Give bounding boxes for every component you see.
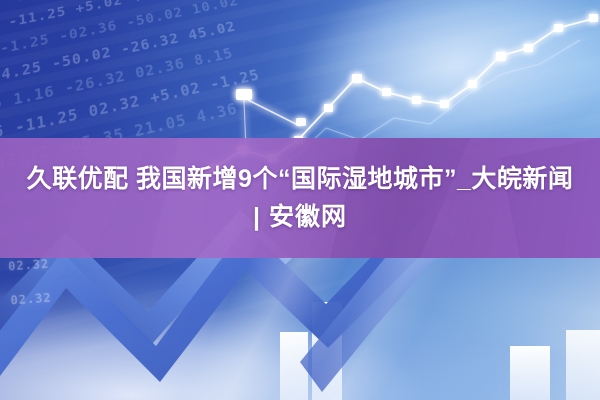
ticker-bottom-left-group: 02.32 02.32 bbox=[8, 257, 54, 328]
bar-column bbox=[510, 346, 550, 400]
news-banner-image: -03.39 +2.25 -11.25 -05.35 21.05 -06.02 … bbox=[0, 0, 600, 400]
headline-line-1: 久联优配 我国新增9个“国际湿地城市”_大皖新闻 bbox=[27, 160, 574, 198]
ticker-value: 02.32 bbox=[10, 291, 52, 308]
ticker-value: 02.32 bbox=[8, 257, 50, 274]
headline-line-2: | 安徽网 bbox=[253, 198, 347, 236]
headline-text-block: 久联优配 我国新增9个“国际湿地城市”_大皖新闻 | 安徽网 bbox=[0, 138, 600, 258]
bar-column bbox=[566, 330, 600, 400]
